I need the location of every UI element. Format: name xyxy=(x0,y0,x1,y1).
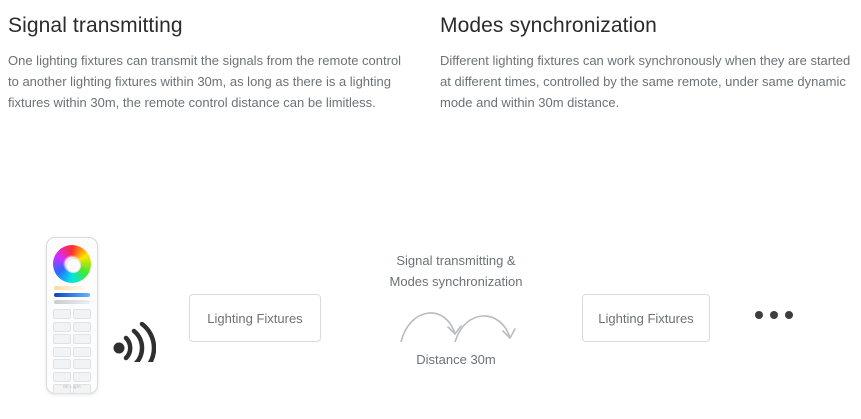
diagram-center-caption: Signal transmitting & Modes synchronizat… xyxy=(343,250,569,292)
section-signal-transmitting: Signal transmitting One lighting fixture… xyxy=(8,14,408,113)
remote-key xyxy=(53,372,71,382)
remote-control-device: Mi-Light xyxy=(46,237,98,394)
ellipsis-dots-icon xyxy=(755,311,793,319)
remote-keypad xyxy=(51,309,93,394)
ellipsis-dot xyxy=(755,311,763,319)
fixture-box-right: Lighting Fixtures xyxy=(582,294,710,342)
wifi-signal-icon xyxy=(112,322,156,362)
page-title-modes-synchronization: Modes synchronization xyxy=(440,14,855,38)
remote-key xyxy=(53,359,71,369)
brightness-slider-bar xyxy=(54,300,90,304)
center-caption-line2: Modes synchronization xyxy=(343,271,569,292)
remote-brand-logo: Mi-Light xyxy=(47,384,97,389)
section-text-modes-synchronization: Different lighting fixtures can work syn… xyxy=(440,50,855,113)
ellipsis-dot xyxy=(770,311,778,319)
center-caption-line1: Signal transmitting & xyxy=(343,250,569,271)
curved-double-arrow-icon xyxy=(393,300,518,346)
distance-label: Distance 30m xyxy=(343,352,569,367)
remote-key xyxy=(53,309,71,319)
remote-key xyxy=(73,309,91,319)
remote-key xyxy=(53,347,71,357)
warm-white-slider-bar xyxy=(54,286,90,290)
remote-key xyxy=(73,347,91,357)
remote-key xyxy=(53,334,71,344)
diagram-area: Mi-Light Lighting Fixtures Signal transm… xyxy=(0,228,861,419)
ellipsis-dot xyxy=(785,311,793,319)
color-slider-bar xyxy=(54,293,90,297)
remote-key xyxy=(73,334,91,344)
remote-key xyxy=(73,322,91,332)
remote-key xyxy=(53,322,71,332)
remote-key xyxy=(73,359,91,369)
color-wheel-icon xyxy=(53,245,91,283)
fixture-box-left: Lighting Fixtures xyxy=(189,294,321,342)
fixture-right-label: Lighting Fixtures xyxy=(598,311,693,326)
section-modes-synchronization: Modes synchronization Different lighting… xyxy=(440,14,855,113)
page-title-signal-transmitting: Signal transmitting xyxy=(8,14,408,38)
fixture-left-label: Lighting Fixtures xyxy=(207,311,302,326)
section-text-signal-transmitting: One lighting fixtures can transmit the s… xyxy=(8,50,408,113)
remote-key xyxy=(73,372,91,382)
